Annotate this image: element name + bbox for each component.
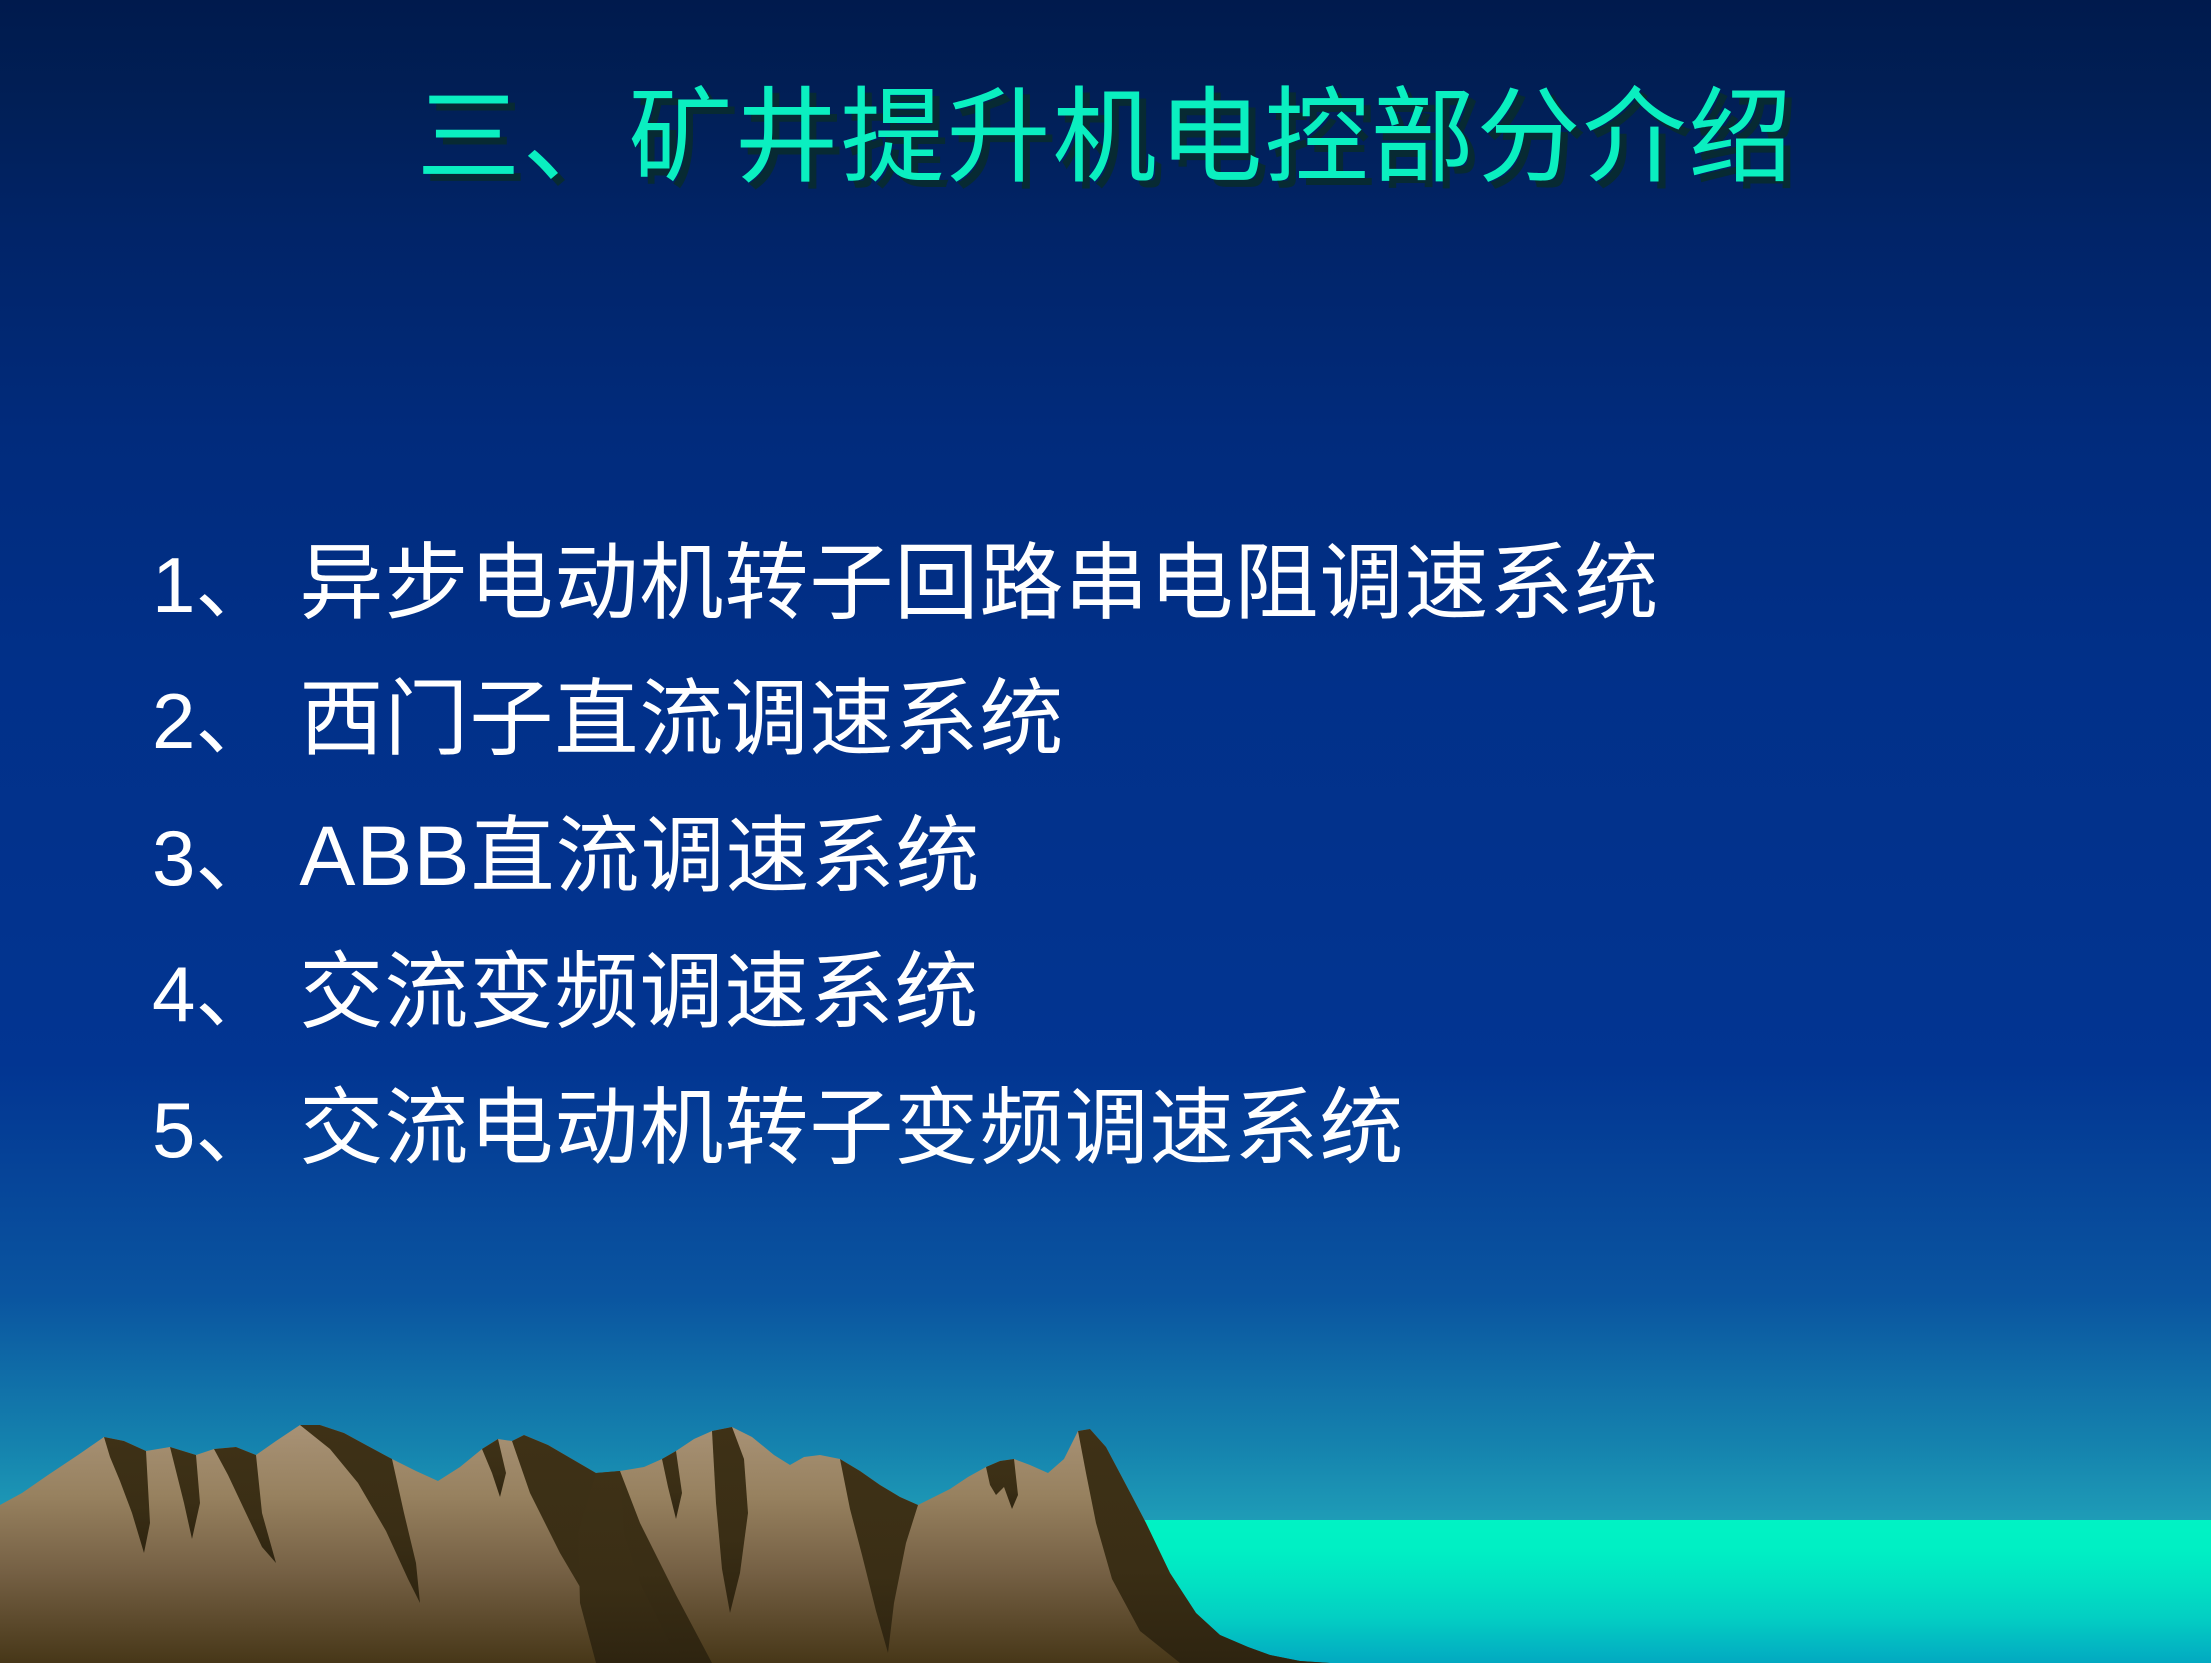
- bullet-separator: 、: [195, 674, 299, 771]
- bullet-separator: 、: [195, 538, 299, 635]
- bullet-number: 3: [152, 810, 195, 907]
- bullet-number: 2: [152, 673, 195, 770]
- list-item: 3 、 ABB直流调速系统: [152, 808, 2151, 908]
- bullet-number: 1: [152, 537, 195, 634]
- slide-title: 三、矿井提升机电控部分介绍: [0, 78, 2211, 201]
- slide-canvas: 三、矿井提升机电控部分介绍 1 、 异步电动机转子回路串电阻调速系统 2 、 西…: [0, 0, 2211, 1663]
- bullet-separator: 、: [195, 811, 299, 908]
- bullet-number: 5: [152, 1082, 195, 1179]
- bullet-text: 异步电动机转子回路串电阻调速系统: [299, 536, 1659, 633]
- bullet-text: 交流变频调速系统: [299, 945, 979, 1042]
- bullet-separator: 、: [195, 1083, 299, 1180]
- list-item: 1 、 异步电动机转子回路串电阻调速系统: [152, 536, 2151, 635]
- list-item: 4 、 交流变频调速系统: [152, 945, 2151, 1044]
- bullet-number: 4: [152, 946, 195, 1043]
- mountain-range-silhouette: [0, 1363, 2211, 1663]
- bullet-text: 西门子直流调速系统: [299, 672, 1064, 769]
- list-item: 2 、 西门子直流调速系统: [152, 672, 2151, 771]
- bullet-separator: 、: [195, 947, 299, 1044]
- list-item: 5 、 交流电动机转子变频调速系统: [152, 1081, 2151, 1180]
- bullet-text: 交流电动机转子变频调速系统: [299, 1081, 1404, 1178]
- bullet-list: 1 、 异步电动机转子回路串电阻调速系统 2 、 西门子直流调速系统 3 、 A…: [152, 536, 2151, 1217]
- bullet-text: ABB直流调速系统: [299, 808, 980, 905]
